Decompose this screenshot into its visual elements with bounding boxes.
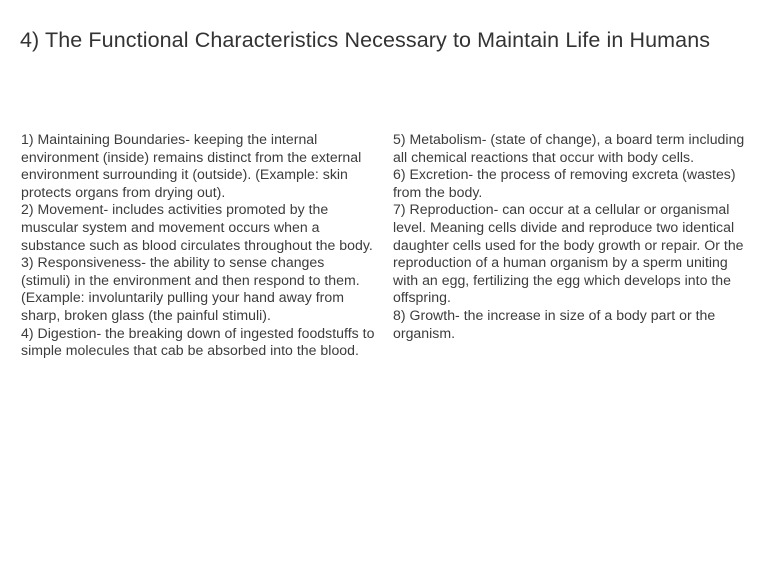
- list-item: 2) Movement- includes activities promote…: [21, 201, 375, 254]
- list-item: 5) Metabolism- (state of change), a boar…: [393, 131, 749, 166]
- left-column: 1) Maintaining Boundaries- keeping the i…: [21, 131, 375, 360]
- page-title: 4) The Functional Characteristics Necess…: [20, 26, 750, 54]
- slide-canvas: 4) The Functional Characteristics Necess…: [0, 0, 768, 561]
- list-item: 1) Maintaining Boundaries- keeping the i…: [21, 131, 375, 201]
- right-column: 5) Metabolism- (state of change), a boar…: [393, 131, 749, 342]
- list-item: 4) Digestion- the breaking down of inges…: [21, 325, 375, 360]
- list-item: 8) Growth- the increase in size of a bod…: [393, 307, 749, 342]
- list-item: 6) Excretion- the process of removing ex…: [393, 166, 749, 201]
- list-item: 3) Responsiveness- the ability to sense …: [21, 254, 375, 324]
- list-item: 7) Reproduction- can occur at a cellular…: [393, 201, 749, 307]
